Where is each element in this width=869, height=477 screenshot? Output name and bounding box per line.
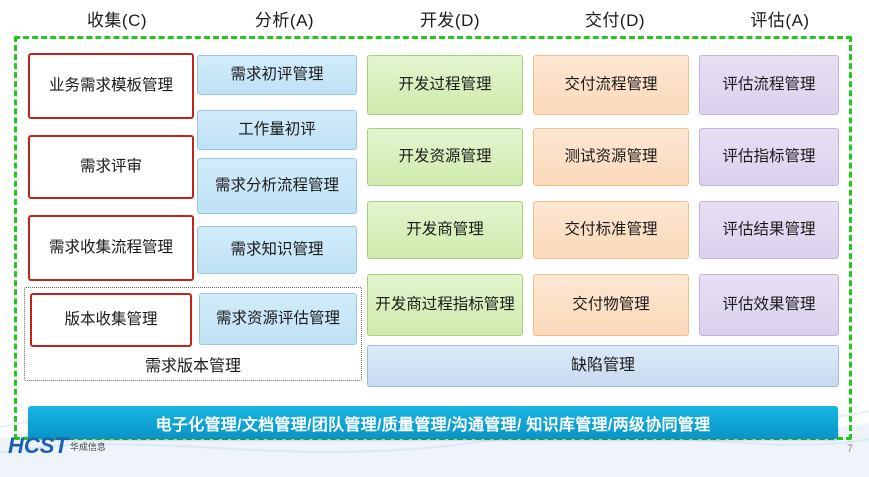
node-develop-1[interactable]: 开发过程管理 <box>367 55 523 115</box>
logo-text: HCST <box>8 433 68 459</box>
node-defect-management[interactable]: 缺陷管理 <box>367 345 839 387</box>
header-develop: 开发(D) <box>365 6 535 31</box>
header-deliver: 交付(D) <box>530 6 700 31</box>
node-analyze-1[interactable]: 需求初评管理 <box>197 55 357 95</box>
node-analyze-4[interactable]: 需求知识管理 <box>197 226 357 274</box>
header-collect: 收集(C) <box>22 6 212 31</box>
node-develop-3[interactable]: 开发商管理 <box>367 201 523 259</box>
header-analyze: 分析(A) <box>197 6 372 31</box>
node-collect-3[interactable]: 需求收集流程管理 <box>28 215 194 281</box>
logo-subtext: 华成信息 <box>70 440 106 453</box>
node-analyze-2[interactable]: 工作量初评 <box>197 110 357 150</box>
header-evaluate: 评估(A) <box>695 6 865 31</box>
group-version-management-label: 需求版本管理 <box>24 348 362 380</box>
node-evaluate-3[interactable]: 评估结果管理 <box>699 201 839 259</box>
node-deliver-2[interactable]: 测试资源管理 <box>533 128 689 186</box>
footer-capabilities-label: 电子化管理/文档管理/团队管理/质量管理/沟通管理/ 知识库管理/两级协同管理 <box>156 411 711 435</box>
node-deliver-4[interactable]: 交付物管理 <box>533 274 689 336</box>
footer-capabilities-bar: 电子化管理/文档管理/团队管理/质量管理/沟通管理/ 知识库管理/两级协同管理 <box>28 406 838 439</box>
node-evaluate-4[interactable]: 评估效果管理 <box>699 274 839 336</box>
node-analyze-3[interactable]: 需求分析流程管理 <box>197 158 357 214</box>
node-evaluate-2[interactable]: 评估指标管理 <box>699 128 839 186</box>
node-deliver-3[interactable]: 交付标准管理 <box>533 201 689 259</box>
node-evaluate-1[interactable]: 评估流程管理 <box>699 55 839 115</box>
company-logo: HCST 华成信息 <box>8 433 106 459</box>
node-collect-4[interactable]: 版本收集管理 <box>30 293 192 347</box>
node-deliver-1[interactable]: 交付流程管理 <box>533 55 689 115</box>
node-collect-1[interactable]: 业务需求模板管理 <box>28 53 194 119</box>
node-analyze-5[interactable]: 需求资源评估管理 <box>199 293 357 345</box>
column-headers: 收集(C) 分析(A) 开发(D) 交付(D) 评估(A) <box>0 6 869 34</box>
node-develop-4[interactable]: 开发商过程指标管理 <box>367 274 523 336</box>
node-develop-2[interactable]: 开发资源管理 <box>367 128 523 186</box>
node-collect-2[interactable]: 需求评审 <box>28 135 194 199</box>
page-number: 7 <box>847 443 853 455</box>
